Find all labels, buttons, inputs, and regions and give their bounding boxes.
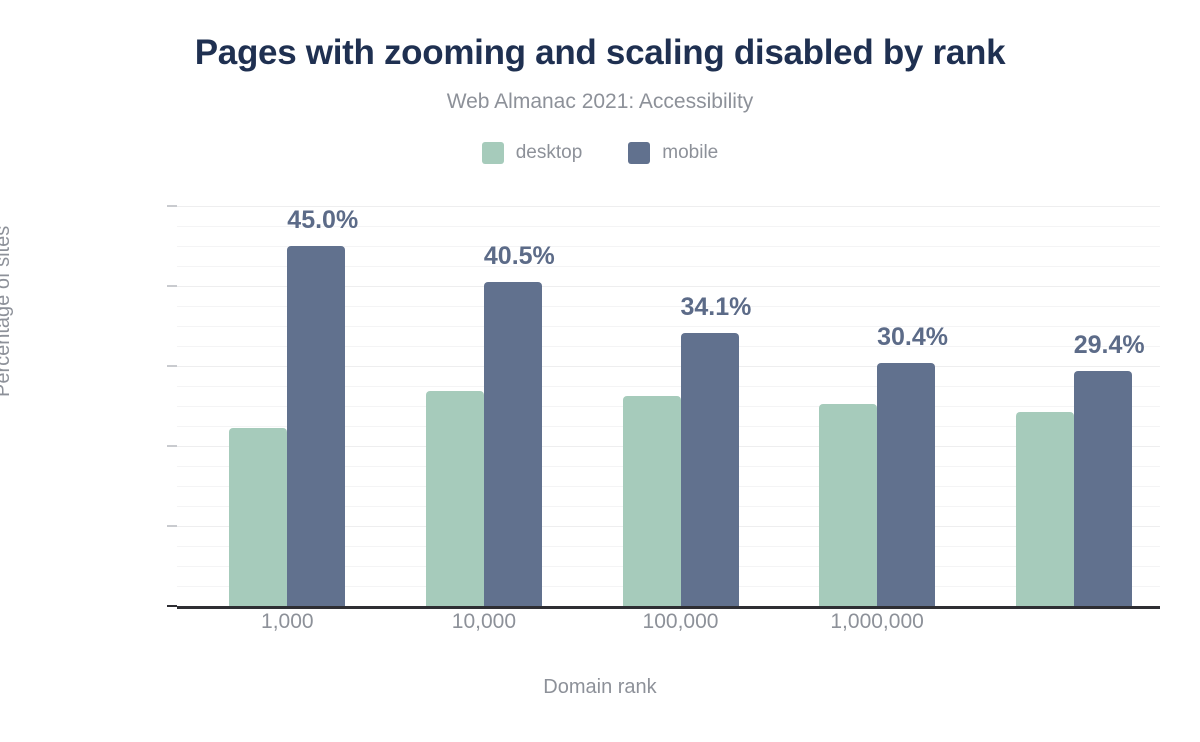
bar-mobile[interactable] <box>877 363 935 606</box>
legend-label-desktop: desktop <box>516 142 583 164</box>
bar-value-label: 34.1% <box>681 293 739 322</box>
y-tick-mark <box>167 205 177 207</box>
bar-desktop[interactable] <box>426 391 484 606</box>
bar-desktop[interactable] <box>1016 412 1074 606</box>
y-tick-mark <box>167 365 177 367</box>
x-axis-title: Domain rank <box>0 676 1200 699</box>
chart-figure: Pages with zooming and scaling disabled … <box>0 0 1200 742</box>
bar-value-label: 40.5% <box>484 242 542 271</box>
bar-groups: 45.0%40.5%34.1%30.4%29.4% <box>177 186 1160 608</box>
x-tick-label: 1,000 <box>207 610 367 634</box>
chart-legend: desktopmobile <box>0 142 1200 164</box>
chart-title: Pages with zooming and scaling disabled … <box>0 33 1200 73</box>
chart-subtitle: Web Almanac 2021: Accessibility <box>0 90 1200 114</box>
bar-group: 40.5% <box>426 188 542 606</box>
y-tick-mark <box>167 445 177 447</box>
bar-desktop[interactable] <box>623 396 681 606</box>
y-tick-mark <box>167 285 177 287</box>
plot-area: 0.0%10.0%20.0%30.0%40.0%50.0% 45.0%40.5%… <box>177 186 1160 608</box>
x-tick-label: 1,000,000 <box>797 610 957 634</box>
bar-value-label: 29.4% <box>1074 331 1132 360</box>
y-axis-title: Percentage of sites <box>0 226 15 397</box>
bar-mobile[interactable] <box>1074 371 1132 606</box>
y-tick-mark <box>167 525 177 527</box>
bar-mobile[interactable] <box>681 333 739 606</box>
bar-desktop[interactable] <box>819 404 877 606</box>
bar-mobile[interactable] <box>287 246 345 606</box>
bar-mobile[interactable] <box>484 282 542 606</box>
bar-desktop[interactable] <box>229 428 287 606</box>
bar-group: 29.4% <box>1016 188 1132 606</box>
y-tick-mark <box>167 605 177 607</box>
bar-group: 45.0% <box>229 188 345 606</box>
bar-group: 34.1% <box>623 188 739 606</box>
legend-swatch-desktop <box>482 142 504 164</box>
legend-item-desktop[interactable]: desktop <box>482 142 583 164</box>
x-tick-label: 100,000 <box>601 610 761 634</box>
x-tick-label: 10,000 <box>404 610 564 634</box>
bar-group: 30.4% <box>819 188 935 606</box>
bar-value-label: 30.4% <box>877 323 935 352</box>
legend-label-mobile: mobile <box>662 142 718 164</box>
legend-item-mobile[interactable]: mobile <box>628 142 718 164</box>
bar-value-label: 45.0% <box>287 206 345 235</box>
legend-swatch-mobile <box>628 142 650 164</box>
